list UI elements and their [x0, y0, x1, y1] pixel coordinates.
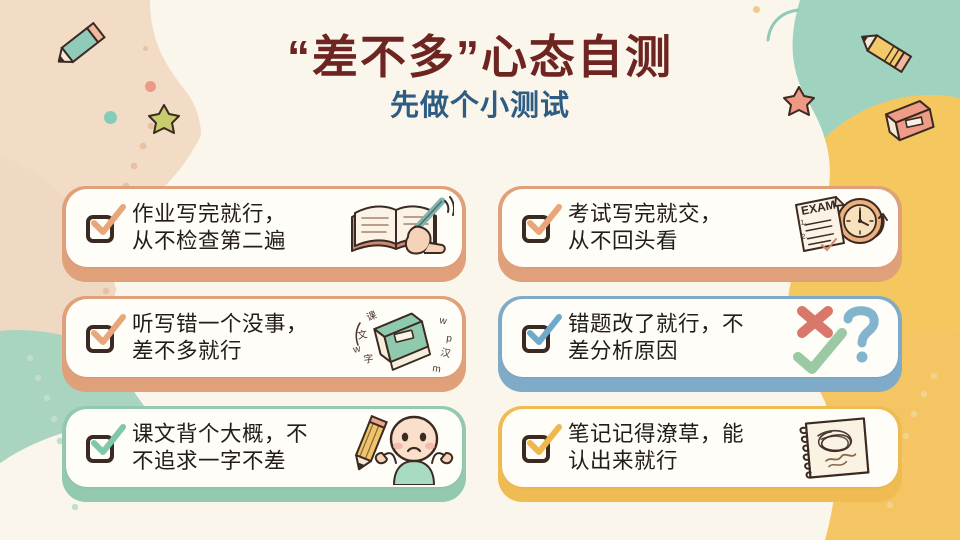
checklist-text: 考试写完就交，从不回头看 — [568, 201, 782, 255]
checklist-item-exam[interactable]: 考试写完就交，从不回头看 EXAM — [498, 186, 902, 282]
line-1: 课文背个大概，不 — [132, 422, 308, 446]
glyph-wen: 文 — [356, 327, 368, 342]
check-icon — [524, 313, 564, 351]
checklist-text: 错题改了就行，不差分析原因 — [568, 311, 782, 365]
checkbox-messy-notes[interactable] — [522, 431, 556, 465]
line-2: 不追求一字不差 — [132, 449, 286, 473]
page-title: “差不多”心态自测 — [0, 32, 960, 84]
line-2: 差分析原因 — [568, 339, 678, 363]
checklist-item-recite-text[interactable]: 课文背个大概，不不追求一字不差 — [62, 406, 466, 502]
checklist-text: 课文背个大概，不不追求一字不差 — [132, 421, 346, 475]
checkbox-recite-text[interactable] — [86, 431, 120, 465]
checkbox-dictation[interactable] — [86, 321, 120, 355]
check-icon — [524, 203, 564, 241]
cross-check-question-icon — [782, 301, 890, 375]
card-face: 听写错一个没事，差不多就行 课 文 w — [66, 299, 462, 377]
line-1: 作业写完就行， — [132, 202, 286, 226]
slide-canvas: “差不多”心态自测 先做个小测试 作业写完就行，从不检查第二遍 — [0, 0, 960, 540]
checklist-text: 作业写完就行，从不检查第二遍 — [132, 201, 346, 255]
card-face: 作业写完就行，从不检查第二遍 — [66, 189, 462, 267]
checklist-grid: 作业写完就行，从不检查第二遍 — [62, 186, 902, 502]
checklist-item-wrong-questions[interactable]: 错题改了就行，不差分析原因 — [498, 296, 902, 392]
card-face: 考试写完就交，从不回头看 EXAM — [502, 189, 898, 267]
checkbox-homework[interactable] — [86, 211, 120, 245]
header: “差不多”心态自测 先做个小测试 — [0, 32, 960, 123]
check-icon — [524, 423, 564, 461]
cross-icon — [802, 311, 828, 333]
glyph-p: p — [446, 333, 453, 345]
line-1: 笔记记得潦草，能 — [568, 422, 744, 446]
check-icon — [88, 423, 128, 461]
page-subtitle: 先做个小测试 — [0, 90, 960, 123]
exam-paper-clock-icon: EXAM 1. 2. — [782, 191, 890, 265]
line-1: 听写错一个没事， — [132, 312, 308, 336]
question-mark-icon — [848, 311, 874, 363]
check-icon — [88, 313, 128, 351]
tick-icon — [798, 333, 842, 369]
glyph-m: m — [431, 363, 441, 375]
card-face: 笔记记得潦草，能认出来就行 — [502, 409, 898, 487]
checklist-item-dictation[interactable]: 听写错一个没事，差不多就行 课 文 w — [62, 296, 466, 392]
open-book-with-hand-pen-icon — [346, 191, 454, 265]
checkbox-wrong-questions[interactable] — [522, 321, 556, 355]
checklist-text: 笔记记得潦草，能认出来就行 — [568, 421, 782, 475]
checkbox-exam[interactable] — [522, 211, 556, 245]
checklist-item-messy-notes[interactable]: 笔记记得潦草，能认出来就行 — [498, 406, 902, 502]
dot-gold-small-icon — [753, 6, 760, 13]
glyph-ke: 课 — [365, 309, 379, 324]
line-1: 考试写完就交， — [568, 202, 722, 226]
checklist-text: 听写错一个没事，差不多就行 — [132, 311, 346, 365]
glyph-han: 汉 — [439, 346, 452, 360]
glyph-w2: w — [351, 343, 362, 356]
check-icon — [88, 203, 128, 241]
line-2: 认出来就行 — [568, 449, 678, 473]
scribbled-notebook-icon — [782, 411, 890, 485]
line-2: 差不多就行 — [132, 339, 242, 363]
glyph-zi: 字 — [363, 352, 375, 366]
green-textbook-icon: 课 文 w p 汉 字 m w — [346, 301, 454, 375]
glyph-w1: w — [437, 315, 448, 328]
card-face: 课文背个大概，不不追求一字不差 — [66, 409, 462, 487]
line-2: 从不回头看 — [568, 229, 678, 253]
checklist-item-homework[interactable]: 作业写完就行，从不检查第二遍 — [62, 186, 466, 282]
shrugging-child-pencil-icon — [346, 411, 454, 485]
line-2: 从不检查第二遍 — [132, 229, 286, 253]
line-1: 错题改了就行，不 — [568, 312, 744, 336]
card-face: 错题改了就行，不差分析原因 — [502, 299, 898, 377]
